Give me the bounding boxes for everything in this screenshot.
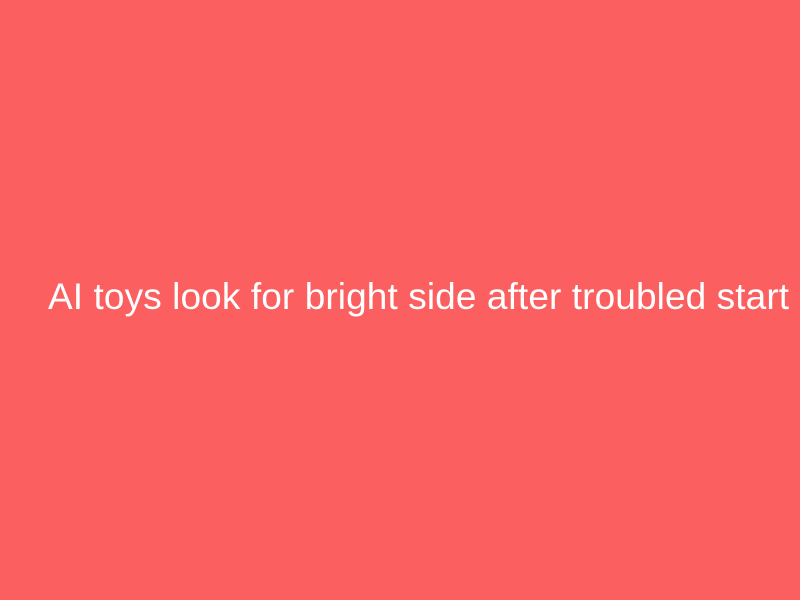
hero-banner: AI toys look for bright side after troub… (0, 0, 800, 600)
page-title: AI toys look for bright side after troub… (0, 274, 800, 319)
